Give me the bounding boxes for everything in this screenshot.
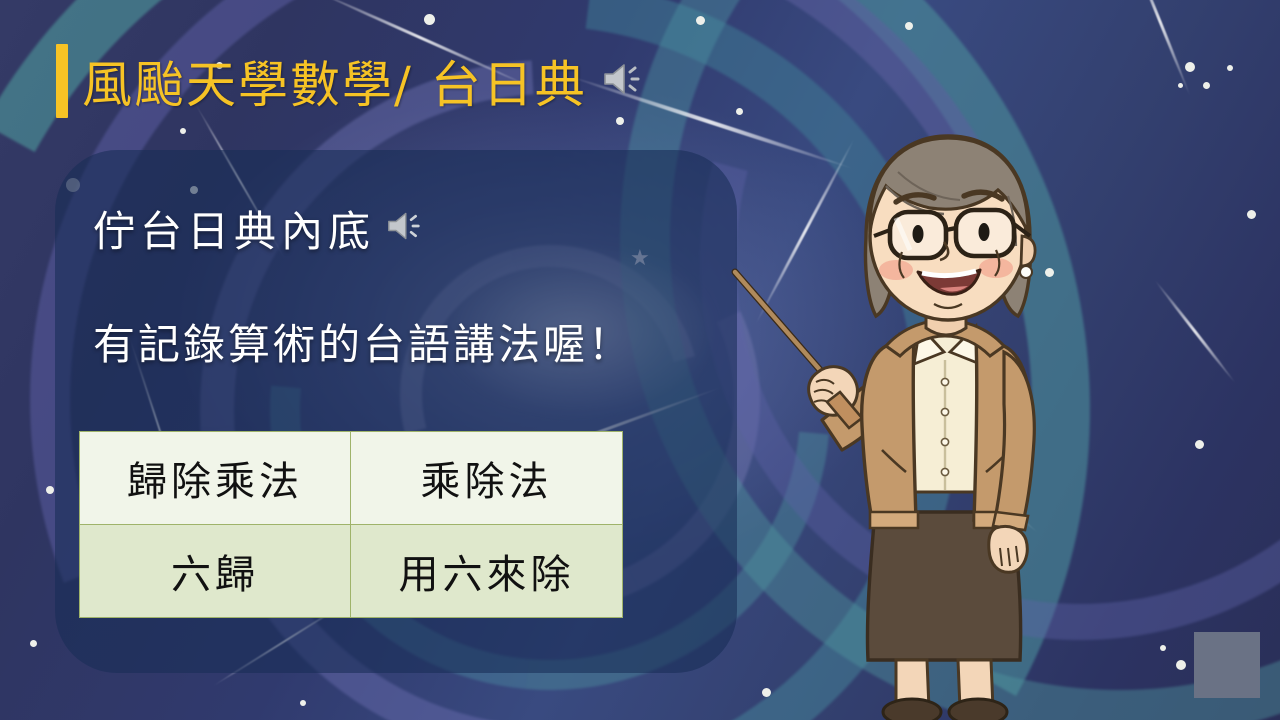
eye-left bbox=[913, 225, 924, 243]
table-row: 歸除乘法 乘除法 bbox=[80, 432, 623, 525]
content-panel: 佇台日典內底 有記錄算術的台語講法喔！ bbox=[55, 150, 737, 673]
bottom-right-placeholder[interactable] bbox=[1194, 632, 1260, 698]
star-dot bbox=[46, 486, 54, 494]
slide-title-row: 風颱天學數學/ 台日典 bbox=[56, 44, 643, 118]
star-dot bbox=[1178, 83, 1183, 88]
table-row: 六歸 用六來除 bbox=[80, 525, 623, 618]
speaker-icon[interactable] bbox=[385, 204, 423, 253]
table-cell-term: 六歸 bbox=[80, 525, 351, 618]
star-dot bbox=[1176, 660, 1186, 670]
earring bbox=[1020, 266, 1032, 278]
pointer-stick bbox=[735, 272, 827, 378]
star-dot bbox=[300, 700, 306, 706]
star-dot bbox=[1247, 210, 1256, 219]
cardigan-left bbox=[862, 338, 916, 520]
slide-root: ★ 風颱天學數學/ 台日典 佇台日典內底 bbox=[0, 0, 1280, 720]
title-accent-bar bbox=[56, 44, 68, 118]
star-dot bbox=[736, 108, 743, 115]
star-dot bbox=[30, 640, 37, 647]
star-dot bbox=[1160, 645, 1166, 651]
shoe bbox=[883, 699, 941, 720]
star-dot bbox=[1227, 65, 1233, 71]
content-line-1: 佇台日典內底 bbox=[93, 198, 737, 259]
star-dot bbox=[905, 22, 913, 30]
content-line-2-text: 有記錄算術的台語講法喔！ bbox=[93, 311, 633, 372]
shoe bbox=[949, 699, 1007, 720]
teacher-illustration bbox=[690, 120, 1160, 720]
star-dot bbox=[1195, 440, 1204, 449]
content-line-1-text: 佇台日典內底 bbox=[93, 198, 375, 259]
star-dot bbox=[616, 117, 624, 125]
page-title: 風颱天學數學/ 台日典 bbox=[82, 45, 587, 117]
terms-table: 歸除乘法 乘除法 六歸 用六來除 bbox=[79, 431, 623, 618]
star-dot bbox=[1185, 62, 1195, 72]
eye-right bbox=[979, 223, 990, 241]
content-line-2: 有記錄算術的台語講法喔！ bbox=[93, 311, 737, 372]
cheek-left bbox=[879, 260, 913, 280]
star-dot bbox=[424, 14, 435, 25]
speaker-icon[interactable] bbox=[601, 60, 643, 102]
star-dot bbox=[1203, 82, 1210, 89]
table-cell-term: 歸除乘法 bbox=[80, 432, 351, 525]
star-dot bbox=[696, 16, 705, 25]
table-cell-meaning: 用六來除 bbox=[351, 525, 623, 618]
ear bbox=[1021, 236, 1035, 266]
table-cell-meaning: 乘除法 bbox=[351, 432, 623, 525]
star-dot bbox=[180, 128, 186, 134]
